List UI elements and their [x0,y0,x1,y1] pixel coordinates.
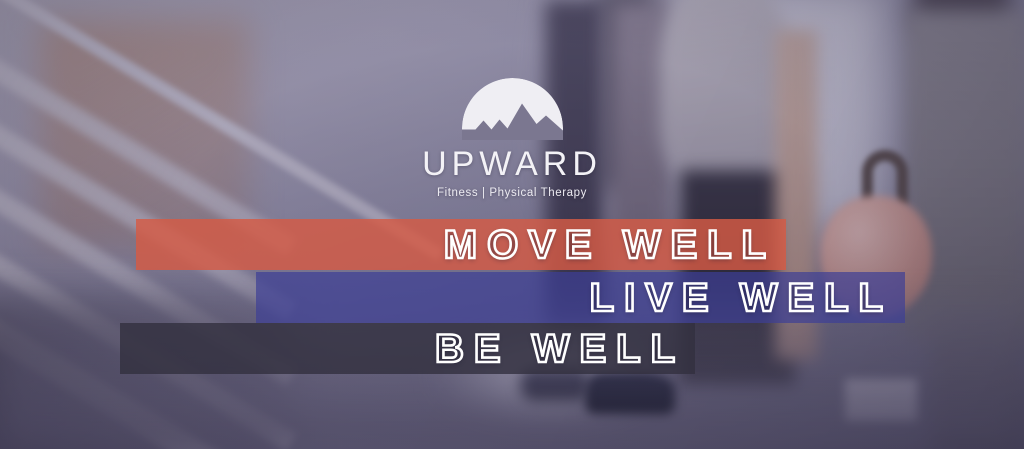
slogan-band-be-well: BE WELL [120,323,695,374]
mountain-circle-icon [462,78,563,140]
slogan-text-live-well: LIVE WELL [590,278,905,318]
slogan-band-live-well: LIVE WELL [256,272,905,323]
brand-logo: UPWARD Fitness | Physical Therapy [0,78,1024,200]
hero-banner: UPWARD Fitness | Physical Therapy MOVE W… [0,0,1024,449]
brand-tagline: Fitness | Physical Therapy [437,188,587,200]
slogan-text-move-well: MOVE WELL [444,225,786,265]
brand-wordmark: UPWARD [422,147,602,181]
slogan-band-move-well: MOVE WELL [136,219,786,270]
slogan-text-be-well: BE WELL [435,329,695,369]
